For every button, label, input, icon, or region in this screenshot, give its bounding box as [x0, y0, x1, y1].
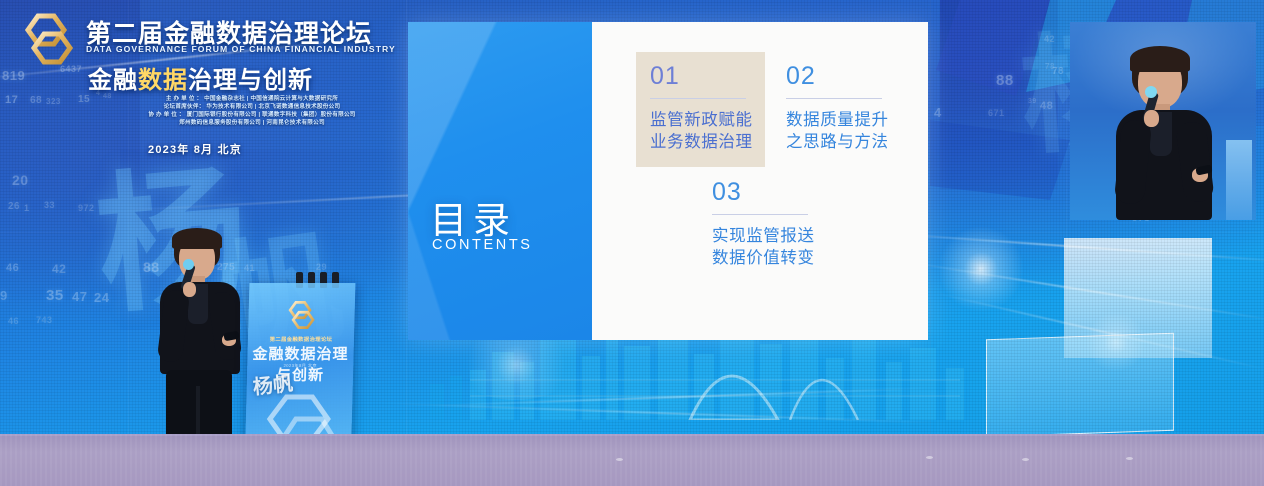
background-number: 35 — [46, 287, 64, 304]
slide-toc-title-cn: 目录 — [430, 190, 516, 244]
slide-left-panel — [408, 22, 592, 340]
background-number: 743 — [36, 315, 53, 325]
speaker-left-hand — [1144, 110, 1159, 127]
background-number: 671 — [988, 108, 1005, 118]
toc-item-divider — [712, 214, 808, 215]
banner-organizer-line-3: 协 办 单 位 ： 厦门国际银行股份有限公司 | 联通数字科技（集团）股份有限公… — [104, 112, 400, 120]
banner-subtitle-en: DATA GOVERNANCE FORUM OF CHINA FINANCIAL… — [86, 44, 396, 54]
stage-floor — [0, 434, 1264, 486]
toc-item-line-1: 实现监管报送 — [712, 225, 815, 247]
toc-item-divider — [786, 98, 882, 99]
theme-part-1: 金融 — [88, 67, 138, 94]
background-number: 46 — [8, 316, 19, 326]
background-number: 88 — [996, 72, 1014, 89]
toc-item-line-1: 监管新政赋能 — [650, 109, 753, 131]
toc-item-line-2: 之思路与方法 — [786, 131, 889, 153]
toc-item-number: 03 — [712, 180, 815, 205]
floor-marker — [926, 456, 933, 459]
banner-date-location: 2023年 8月 北京 — [148, 141, 242, 157]
background-number: 42 — [52, 262, 66, 276]
toc-item-line-2: 业务数据治理 — [650, 131, 753, 153]
banner-organizer-line-1: 主 办 单 位 ： 中国金融杂志社 | 中国信通院云计算与大数据研究所 — [104, 96, 400, 104]
stage-floor-edge — [0, 434, 1264, 436]
wall-glass-panel — [986, 333, 1174, 438]
background-number: 20 — [12, 172, 29, 188]
background-number: 42 — [1044, 34, 1055, 44]
slide-toc-title-en: CONTENTS — [432, 237, 533, 253]
toc-item-number: 01 — [650, 64, 753, 89]
forum-hexagon-logo — [18, 10, 80, 68]
slide-toc-item-01: 01 监管新政赋能 业务数据治理 — [636, 52, 765, 167]
background-number: 78 — [1045, 62, 1055, 71]
background-number: 46 — [6, 262, 19, 274]
lens-flare — [938, 226, 1024, 312]
forum-hexagon-logo — [284, 299, 319, 331]
background-number: 9 — [0, 288, 8, 303]
banner-organizer-line-2: 论坛首席伙伴： 华为技术有限公司 | 北京飞诺数通信息技术股份公司 — [104, 104, 400, 112]
speaker-hair-top — [172, 228, 222, 249]
lens-flare — [456, 330, 576, 400]
podium-caption: 2023年8月 北京 — [247, 363, 353, 369]
floor-marker — [1022, 458, 1029, 461]
floor-marker — [1126, 457, 1133, 460]
slide-toc-item-02: 02 数据质量提升 之思路与方法 — [786, 64, 889, 153]
feed-background-panel — [1226, 140, 1252, 220]
background-number: 26 — [8, 201, 20, 212]
background-number: 48 — [1040, 100, 1053, 112]
background-number: 972 — [78, 203, 95, 213]
speaker-hair-top — [1130, 46, 1190, 72]
camera-feed-speaker — [1104, 48, 1224, 220]
projected-slide: 目录 CONTENTS 01 监管新政赋能 业务数据治理 02 数据质量提升 之… — [408, 22, 928, 340]
background-number: 47 — [72, 289, 87, 304]
toc-item-line-2: 数据价值转变 — [712, 247, 815, 269]
background-number: 4 — [934, 105, 942, 120]
toc-item-line-1: 数据质量提升 — [786, 109, 889, 131]
background-number: 39 — [1028, 98, 1037, 105]
toc-item-number: 02 — [786, 64, 889, 89]
background-number: 33 — [44, 200, 55, 210]
banner-theme: 金融数据治理与创新 — [88, 60, 313, 95]
camera-feed-panel — [1070, 22, 1256, 220]
background-number: 29 — [316, 262, 327, 272]
toc-item-divider — [650, 98, 746, 99]
slide-content-panel: 01 监管新政赋能 业务数据治理 02 数据质量提升 之思路与方法 03 实现监… — [592, 22, 928, 340]
speaker-microphone-head — [1145, 86, 1157, 98]
theme-part-3: 治理与创新 — [188, 67, 313, 94]
background-number: 24 — [94, 290, 109, 305]
slide-toc-item-03: 03 实现监管报送 数据价值转变 — [712, 180, 815, 269]
speaker-left-hand — [183, 282, 196, 297]
forum-key-visual-banner: 第二届金融数据治理论坛 DATA GOVERNANCE FORUM OF CHI… — [0, 0, 406, 170]
podium-title: 第二届金融数据治理论坛 — [248, 335, 354, 343]
background-number: 1 — [24, 203, 30, 213]
conference-stage-photo: 杨 帆 杨 帆 — [0, 0, 1264, 486]
theme-part-2: 数据 — [138, 67, 188, 94]
floor-marker — [616, 458, 623, 461]
speaker-microphone-head — [183, 259, 194, 270]
banner-organizer-line-4: 郑州数码信息服务股份有限公司 | 河南昆仑技术有限公司 — [104, 120, 400, 128]
